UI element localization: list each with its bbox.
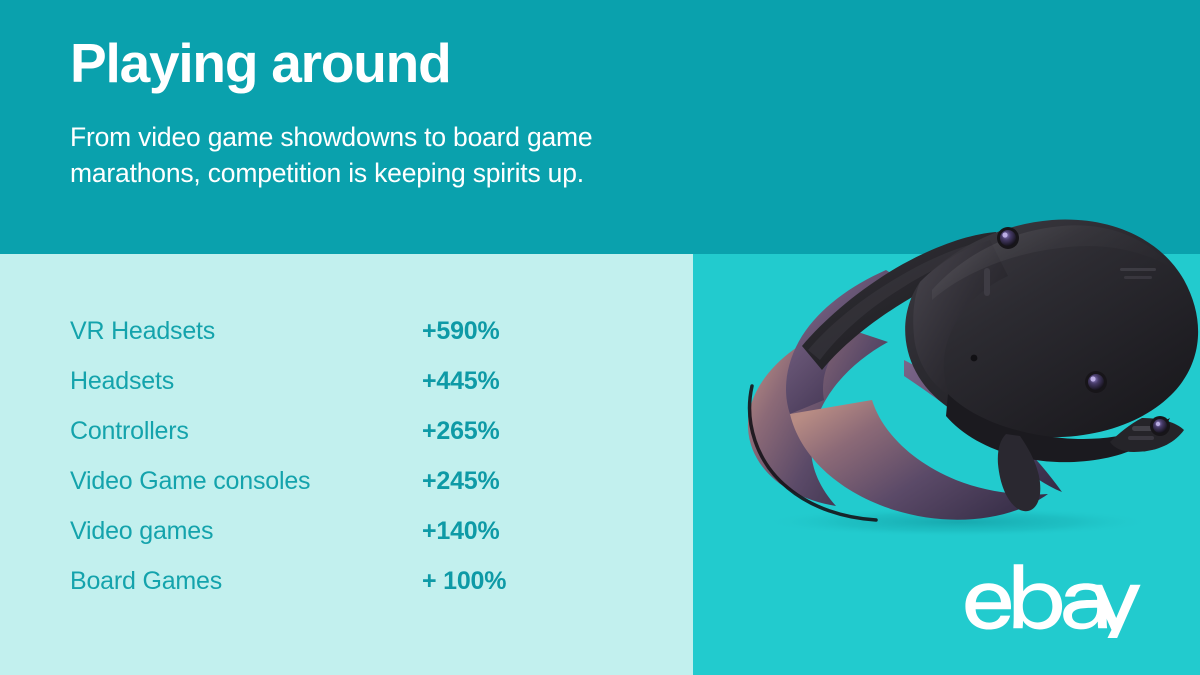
stats-list: VR Headsets +590% Headsets +445% Control… — [70, 306, 570, 606]
stat-value: +265% — [422, 406, 500, 456]
stat-row: Video Game consoles +245% — [70, 456, 570, 506]
page-subtitle: From video game showdowns to board game … — [70, 119, 760, 191]
stat-row: Video games +140% — [70, 506, 570, 556]
stat-value: +245% — [422, 456, 500, 506]
stat-label: Video Game consoles — [70, 456, 422, 506]
stat-value: + 100% — [422, 556, 506, 606]
subtitle-line-2: marathons, competition is keeping spirit… — [70, 155, 760, 191]
headline-block: Playing around From video game showdowns… — [70, 34, 770, 191]
stat-label: Controllers — [70, 406, 422, 456]
stat-row: Board Games + 100% — [70, 556, 570, 606]
stat-row: Headsets +445% — [70, 356, 570, 406]
page-title: Playing around — [70, 34, 770, 93]
stat-label: Headsets — [70, 356, 422, 406]
ebay-logo — [963, 562, 1143, 638]
stat-value: +140% — [422, 506, 500, 556]
stat-label: VR Headsets — [70, 306, 422, 356]
stat-row: Controllers +265% — [70, 406, 570, 456]
subtitle-line-1: From video game showdowns to board game — [70, 119, 760, 155]
stat-label: Video games — [70, 506, 422, 556]
stat-value: +590% — [422, 306, 500, 356]
stat-value: +445% — [422, 356, 500, 406]
stat-row: VR Headsets +590% — [70, 306, 570, 356]
stat-label: Board Games — [70, 556, 422, 606]
infographic-canvas: Playing around From video game showdowns… — [0, 0, 1200, 675]
